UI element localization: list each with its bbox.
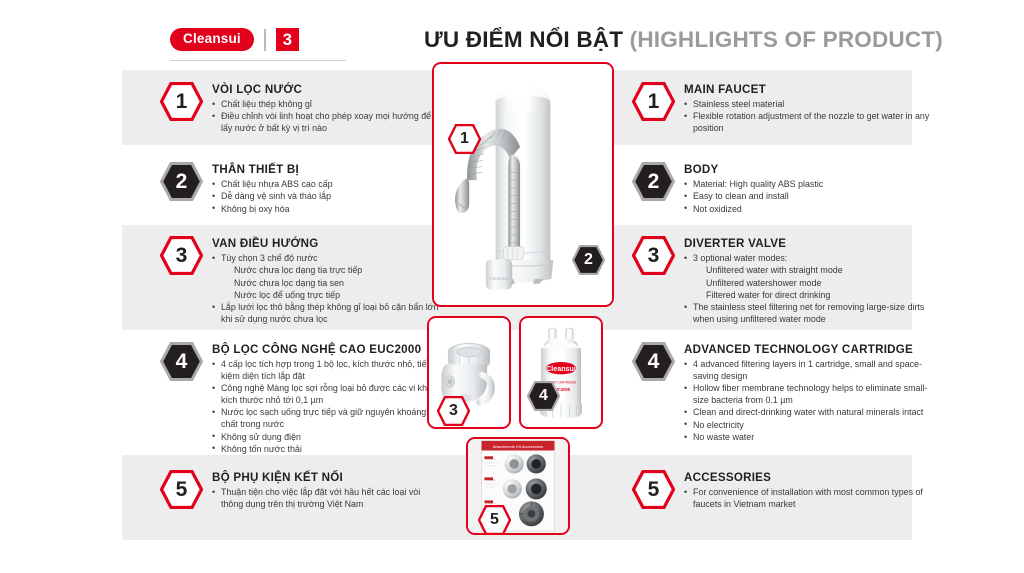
page-title-vietnamese: ƯU ĐIỂM NỔI BẬT	[424, 27, 630, 52]
feature-badge-right-2: 2	[632, 162, 675, 201]
photo-callout-1-number: 1	[460, 131, 469, 147]
feature-title: THÂN THIẾT BỊ	[212, 163, 333, 176]
feature-bullet: Easy to clean and install	[684, 191, 823, 203]
brand-logo: Cleansui 3	[170, 28, 299, 51]
svg-text:Cleansui: Cleansui	[489, 276, 508, 282]
feature-bullet-list: Thuận tiện cho việc lắp đặt với hầu hết …	[212, 487, 442, 511]
feature-bullet: Unfiltered watershower mode	[684, 278, 932, 290]
feature-body: BODYMaterial: High quality ABS plasticEa…	[684, 162, 823, 216]
feature-body: ADVANCED TECHNOLOGY CARTRIDGE4 advanced …	[684, 342, 932, 444]
feature-bullet: Chất liệu thép không gỉ	[212, 99, 442, 111]
feature-bullet: Stainless steel material	[684, 99, 932, 111]
page-title: ƯU ĐIỂM NỔI BẬT (HIGHLIGHTS OF PRODUCT)	[424, 27, 943, 53]
feature-bullet-list: 4 advanced filtering layers in 1 cartrid…	[684, 359, 932, 444]
photo-callout-3-number: 3	[449, 403, 458, 419]
feature-body: VAN ĐIỀU HƯỚNGTùy chọn 3 chế độ nướcNước…	[212, 236, 442, 327]
feature-bullet: Hollow fiber membrane technology helps t…	[684, 383, 932, 407]
photo-callout-4: 4	[527, 381, 560, 411]
feature-bullet: Lắp lưới lọc thô bằng thép không gỉ loại…	[212, 302, 442, 326]
feature-row-left-3: 3VAN ĐIỀU HƯỚNGTùy chọn 3 chế độ nướcNướ…	[160, 236, 442, 327]
feature-bullet: Không sử dụng điện	[212, 432, 442, 444]
feature-bullet: Dễ dàng vệ sinh và tháo lắp	[212, 191, 333, 203]
infographic-page: Cleansui 3 ƯU ĐIỂM NỔI BẬT (HIGHLIGHTS O…	[0, 0, 1024, 573]
feature-bullet: Tùy chọn 3 chế độ nước	[212, 253, 442, 265]
feature-bullet-list: 3 optional water modes:Unfiltered water …	[684, 253, 932, 326]
feature-badge-number: 3	[648, 245, 660, 266]
feature-badge-right-1: 1	[632, 82, 675, 121]
feature-badge-right-5: 5	[632, 470, 675, 509]
feature-body: BỘ LỌC CÔNG NGHỆ CAO EUC20004 cấp lọc tí…	[212, 342, 442, 456]
feature-bullet: Điều chỉnh vòi linh hoạt cho phép xoay m…	[212, 111, 442, 135]
svg-text:Attachments Kit Accessories: Attachments Kit Accessories	[493, 444, 544, 449]
feature-bullet-list: Material: High quality ABS plasticEasy t…	[684, 179, 823, 216]
feature-body: THÂN THIẾT BỊChất liệu nhựa ABS cao cấpD…	[212, 162, 333, 216]
cleansui-wordmark: Cleansui	[170, 28, 254, 51]
feature-body: DIVERTER VALVE3 optional water modes:Unf…	[684, 236, 932, 327]
product-photo-cartridge: Cleansui FILTER CARTRIDGE EUC2000	[519, 316, 603, 429]
feature-row-left-4: 4BỘ LỌC CÔNG NGHỆ CAO EUC20004 cấp lọc t…	[160, 342, 442, 456]
feature-row-left-1: 1VÒI LỌC NƯỚCChất liệu thép không gỉĐiều…	[160, 82, 442, 136]
feature-bullet: Thuận tiện cho việc lắp đặt với hầu hết …	[212, 487, 442, 511]
header-divider-rule	[170, 60, 346, 61]
feature-body: MAIN FAUCETStainless steel materialFlexi…	[684, 82, 932, 136]
feature-row-right-1: 1MAIN FAUCETStainless steel materialFlex…	[632, 82, 932, 136]
feature-bullet: 4 advanced filtering layers in 1 cartrid…	[684, 359, 932, 383]
feature-badge-left-4: 4	[160, 342, 203, 381]
feature-bullet: Filtered water for direct drinking	[684, 290, 932, 302]
feature-bullet: Nước lọc sạch uống trực tiếp và giữ nguy…	[212, 407, 442, 431]
feature-bullet: No electricity	[684, 420, 932, 432]
feature-body: ACCESSORIESFor convenience of installati…	[684, 470, 932, 511]
feature-bullet-list: Chất liệu thép không gỉĐiều chỉnh vòi li…	[212, 99, 442, 135]
feature-title: DIVERTER VALVE	[684, 237, 932, 250]
feature-bullet: Not oxidized	[684, 204, 823, 216]
feature-row-right-2: 2BODYMaterial: High quality ABS plasticE…	[632, 162, 932, 216]
feature-title: BỘ PHỤ KIỆN KẾT NỐI	[212, 471, 442, 484]
feature-bullet: Công nghệ Màng lọc sợi rỗng loại bỏ được…	[212, 383, 442, 407]
feature-badge-number: 5	[648, 479, 660, 500]
page-title-english: (HIGHLIGHTS OF PRODUCT)	[630, 27, 943, 52]
header: Cleansui 3 ƯU ĐIỂM NỔI BẬT (HIGHLIGHTS O…	[0, 0, 1024, 62]
feature-badge-number: 2	[648, 171, 660, 192]
feature-row-left-5: 5BỘ PHỤ KIỆN KẾT NỐIThuận tiện cho việc …	[160, 470, 442, 511]
feature-bullet: Material: High quality ABS plastic	[684, 179, 823, 191]
feature-bullet: Clean and direct-drinking water with nat…	[684, 407, 932, 419]
feature-bullet-list: Stainless steel materialFlexible rotatio…	[684, 99, 932, 135]
feature-badge-left-5: 5	[160, 470, 203, 509]
feature-bullet: For convenience of installation with mos…	[684, 487, 932, 511]
feature-badge-left-2: 2	[160, 162, 203, 201]
feature-title: VÒI LỌC NƯỚC	[212, 83, 442, 96]
feature-bullet: Nước chưa lọc dạng tia sen	[212, 278, 442, 290]
feature-bullet: 3 optional water modes:	[684, 253, 932, 265]
feature-bullet: No waste water	[684, 432, 932, 444]
feature-badge-left-1: 1	[160, 82, 203, 121]
svg-text:Cleansui: Cleansui	[546, 365, 576, 373]
model-number-badge: 3	[276, 28, 299, 51]
feature-bullet: Không bị oxy hóa	[212, 204, 333, 216]
feature-badge-right-3: 3	[632, 236, 675, 275]
feature-body: BỘ PHỤ KIỆN KẾT NỐIThuận tiện cho việc l…	[212, 470, 442, 511]
feature-bullet: Unfiltered water with straight mode	[684, 265, 932, 277]
photo-callout-4-number: 4	[539, 388, 548, 404]
photo-callout-1: 1	[448, 124, 481, 154]
feature-badge-number: 1	[176, 91, 188, 112]
photo-callout-2: 2	[572, 245, 605, 275]
feature-badge-left-3: 3	[160, 236, 203, 275]
feature-bullet: Nước lọc để uống trực tiếp	[212, 290, 442, 302]
feature-bullet: Chất liệu nhựa ABS cao cấp	[212, 179, 333, 191]
feature-row-right-5: 5ACCESSORIESFor convenience of installat…	[632, 470, 932, 511]
feature-title: BỘ LỌC CÔNG NGHỆ CAO EUC2000	[212, 343, 442, 356]
feature-title: BODY	[684, 163, 823, 176]
feature-bullet: 4 cấp lọc tích hợp trong 1 bộ lọc, kích …	[212, 359, 442, 383]
feature-row-left-2: 2THÂN THIẾT BỊChất liệu nhựa ABS cao cấp…	[160, 162, 442, 216]
feature-title: MAIN FAUCET	[684, 83, 932, 96]
feature-badge-number: 5	[176, 479, 188, 500]
feature-bullet-list: Chất liệu nhựa ABS cao cấpDễ dàng vệ sin…	[212, 179, 333, 216]
feature-body: VÒI LỌC NƯỚCChất liệu thép không gỉĐiều …	[212, 82, 442, 136]
photo-callout-5-number: 5	[490, 512, 499, 528]
feature-bullet: Flexible rotation adjustment of the nozz…	[684, 111, 932, 135]
feature-bullet-list: For convenience of installation with mos…	[684, 487, 932, 511]
feature-badge-number: 1	[648, 91, 660, 112]
feature-bullet-list: Tùy chọn 3 chế độ nướcNước chưa lọc dạng…	[212, 253, 442, 326]
feature-badge-number: 2	[176, 171, 188, 192]
feature-badge-number: 4	[648, 351, 660, 372]
photo-callout-5: 5	[478, 505, 511, 535]
feature-bullet-list: 4 cấp lọc tích hợp trong 1 bộ lọc, kích …	[212, 359, 442, 456]
feature-bullet: The stainless steel filtering net for re…	[684, 302, 932, 326]
feature-row-right-4: 4ADVANCED TECHNOLOGY CARTRIDGE4 advanced…	[632, 342, 932, 444]
feature-row-right-3: 3DIVERTER VALVE3 optional water modes:Un…	[632, 236, 932, 327]
feature-title: ACCESSORIES	[684, 471, 932, 484]
feature-badge-number: 3	[176, 245, 188, 266]
feature-title: VAN ĐIỀU HƯỚNG	[212, 237, 442, 250]
logo-divider	[264, 29, 266, 51]
feature-badge-right-4: 4	[632, 342, 675, 381]
feature-bullet: Không tốn nước thải	[212, 444, 442, 456]
photo-callout-3: 3	[437, 396, 470, 426]
photo-callout-2-number: 2	[584, 252, 593, 268]
feature-bullet: Nước chưa lọc dạng tia trực tiếp	[212, 265, 442, 277]
feature-title: ADVANCED TECHNOLOGY CARTRIDGE	[684, 343, 932, 356]
feature-badge-number: 4	[176, 351, 188, 372]
